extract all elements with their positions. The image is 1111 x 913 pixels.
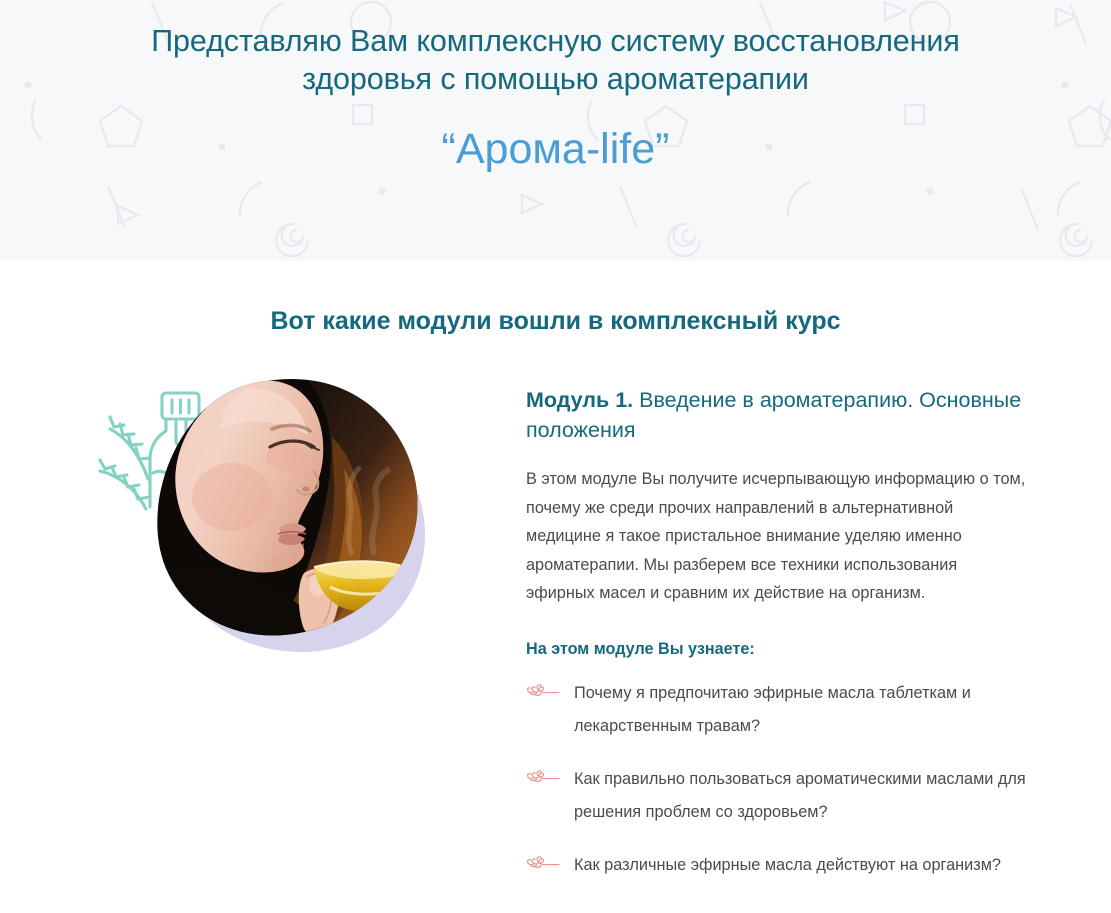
floral-flourish-bullet-icon — [526, 683, 560, 697]
module-title: Модуль 1. Введение в ароматерапию. Основ… — [526, 385, 1027, 445]
module-description: В этом модуле Вы получите исчерпывающую … — [526, 465, 1027, 608]
hero-text-block: Представляю Вам комплексную систему восс… — [0, 0, 1111, 175]
learn-list-heading: На этом модуле Вы узнаете: — [526, 637, 1027, 661]
list-item: Как различные эфирные масла действуют на… — [526, 849, 1027, 882]
module-photo — [154, 377, 422, 639]
module-figure — [96, 375, 452, 675]
floral-flourish-bullet-icon — [526, 855, 560, 869]
list-item-text: Как различные эфирные масла действуют на… — [574, 849, 1001, 882]
module-card: Модуль 1. Введение в ароматерапию. Основ… — [0, 375, 1111, 902]
learn-list: Почему я предпочитаю эфирные масла табле… — [526, 677, 1027, 882]
section-heading: Вот какие модули вошли в комплексный кур… — [0, 305, 1111, 337]
modules-section: Вот какие модули вошли в комплексный кур… — [0, 305, 1111, 902]
list-item: Как правильно пользоваться ароматическим… — [526, 763, 1027, 829]
hero-brand-name: “Арома-life” — [0, 123, 1111, 175]
floral-flourish-bullet-icon — [526, 769, 560, 783]
module-title-prefix: Модуль 1. — [526, 388, 633, 412]
hero-banner: Представляю Вам комплексную систему восс… — [0, 0, 1111, 261]
module-text-block: Модуль 1. Введение в ароматерапию. Основ… — [452, 375, 1027, 902]
hero-title: Представляю Вам комплексную систему восс… — [0, 22, 1111, 98]
list-item: Почему я предпочитаю эфирные масла табле… — [526, 677, 1027, 743]
list-item-text: Как правильно пользоваться ароматическим… — [574, 763, 1027, 829]
list-item-text: Почему я предпочитаю эфирные масла табле… — [574, 677, 1027, 743]
